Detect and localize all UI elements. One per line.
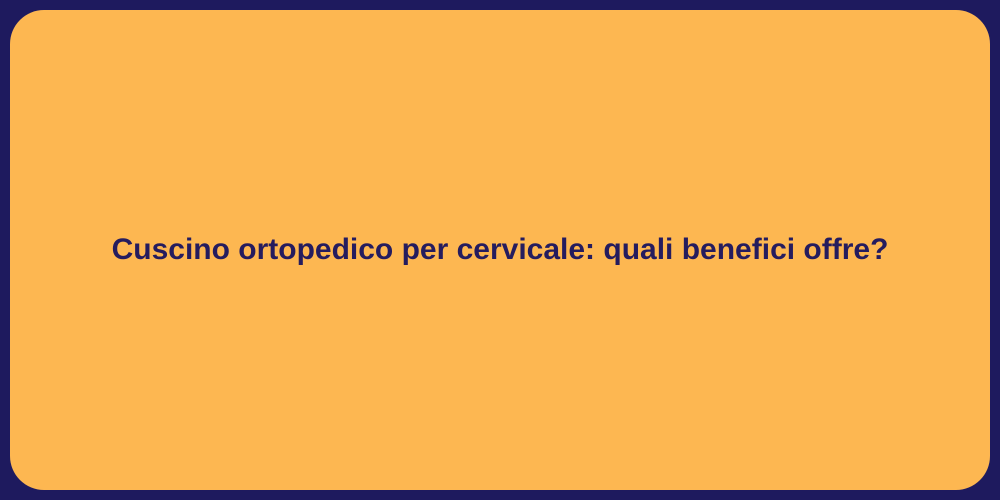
page-title: Cuscino ortopedico per cervicale: quali … bbox=[112, 231, 889, 269]
page-canvas: Cuscino ortopedico per cervicale: quali … bbox=[0, 0, 1000, 500]
hero-card: Cuscino ortopedico per cervicale: quali … bbox=[10, 10, 990, 490]
